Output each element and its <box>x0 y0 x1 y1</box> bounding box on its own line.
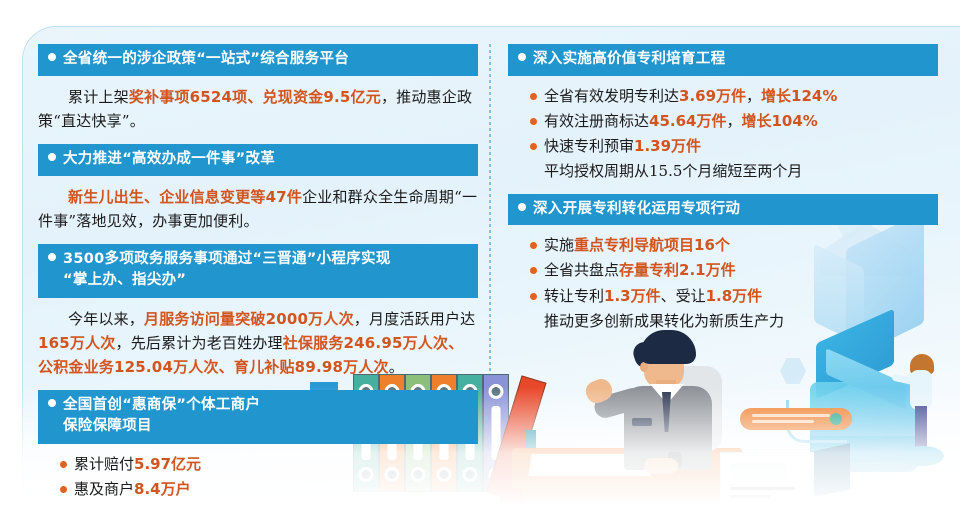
dot-icon <box>48 53 56 61</box>
bullet-dot-icon <box>60 486 67 493</box>
body-text: 今年以来， <box>68 310 144 328</box>
section-header-label: 大力推进“高效办成一件事”改革 <box>63 151 275 167</box>
body-text: 平均授权周期从15.5个月缩短至两个月 <box>544 162 802 180</box>
section-paragraph: 今年以来，月服务访问量突破2000万人次，月度活跃用户达165万人次，先后累计为… <box>38 307 478 380</box>
section-header-label: 深入实施高价值专利培育工程 <box>533 51 725 67</box>
list-item: 推动更多创新成果转化为新质生产力 <box>530 310 938 333</box>
dot-icon <box>518 53 526 61</box>
dot-icon <box>48 253 56 261</box>
highlight-text: 45.64万件 <box>649 112 726 130</box>
list-item: 平均授权周期从15.5个月缩短至两个月 <box>530 160 938 183</box>
section-paragraph: 新生儿出生、企业信息变更等47件企业和群众全生命周期“一件事”落地见效，办事更加… <box>38 185 478 234</box>
highlight-text: 5.97亿元 <box>134 455 201 473</box>
body-text: 全省有效发明专利达 <box>544 87 679 105</box>
infographic-root: 全省统一的涉企政策“一站式”综合服务平台累计上架奖补事项6524项、兑现资金9.… <box>0 0 960 507</box>
bullet-dot-icon <box>530 93 537 100</box>
list-item: 转让专利1.3万件、受让1.8万件 <box>530 285 938 308</box>
section-header-bar: 全国首创“惠商保”个体工商户保险保障项目 <box>38 390 478 443</box>
bullet-dot-icon <box>530 267 537 274</box>
right-column: 深入实施高价值专利培育工程全省有效发明专利达3.69万件，增长124%有效注册商… <box>508 44 938 343</box>
section-header-bar: 3500多项政务服务事项通过“三晋通”小程序实现“掌上办、指尖办” <box>38 244 478 297</box>
highlight-text: 奖补事项6524项、兑现资金9.5亿元 <box>129 88 381 106</box>
dot-icon <box>518 203 526 211</box>
section-header-label: 全国首创“惠商保”个体工商户 <box>63 397 260 413</box>
section-header-bar: 深入实施高价值专利培育工程 <box>508 44 938 76</box>
highlight-text: 165万人次 <box>38 334 116 352</box>
bullet-dot-icon <box>60 461 67 468</box>
list-item: 实施重点专利导航项目16个 <box>530 234 938 257</box>
section-header-label-line2: 保险保障项目 <box>48 416 468 437</box>
section-bullet-list: 全省有效发明专利达3.69万件，增长124%有效注册商标达45.64万件，增长1… <box>508 85 938 184</box>
section-header-label: 深入开展专利转化运用专项行动 <box>533 201 740 217</box>
highlight-text: 8.4万户 <box>134 480 191 498</box>
section-paragraph: 累计上架奖补事项6524项、兑现资金9.5亿元，推动惠企政策“直达快享”。 <box>38 85 478 134</box>
highlight-text: 1.39万件 <box>634 137 701 155</box>
body-text: 转让专利 <box>544 287 604 305</box>
highlight-text: 存量专利2.1万件 <box>619 261 736 279</box>
section-header-bar: 大力推进“高效办成一件事”改革 <box>38 144 478 176</box>
body-text: 推动更多创新成果转化为新质生产力 <box>544 312 784 330</box>
body-text: ，先后累计为老百姓办理 <box>116 334 283 352</box>
section-header-bar: 全省统一的涉企政策“一站式”综合服务平台 <box>38 44 478 76</box>
body-text: 。 <box>389 358 404 376</box>
dot-icon <box>48 153 56 161</box>
body-text: 惠及商户 <box>74 480 134 498</box>
body-text: 全省共盘点 <box>544 261 619 279</box>
bullet-dot-icon <box>530 293 537 300</box>
highlight-text: 重点专利导航项目16个 <box>574 236 730 254</box>
highlight-text: 新生儿出生、企业信息变更等47件 <box>68 188 302 206</box>
section-bullet-list: 累计赔付5.97亿元惠及商户8.4万户 <box>38 453 478 502</box>
body-text: 有效注册商标达 <box>544 112 649 130</box>
body-text: 、受让 <box>661 287 706 305</box>
body-text: ，月度活跃用户达 <box>354 310 476 328</box>
body-text: 累计上架 <box>68 88 129 106</box>
body-text: 快速专利预审 <box>544 137 634 155</box>
dot-icon <box>48 399 56 407</box>
section-bullet-list: 实施重点专利导航项目16个全省共盘点存量专利2.1万件转让专利1.3万件、受让1… <box>508 234 938 333</box>
highlight-text: 月服务访问量突破2000万人次 <box>144 310 354 328</box>
section-header-label-line2: “掌上办、指尖办” <box>48 270 468 291</box>
highlight-text: 增长124% <box>761 87 837 105</box>
section-header-label: 3500多项政务服务事项通过“三晋通”小程序实现 <box>63 251 391 267</box>
list-item: 有效注册商标达45.64万件，增长104% <box>530 110 938 133</box>
bullet-dot-icon <box>530 143 537 150</box>
highlight-text: 1.3万件 <box>604 287 661 305</box>
body-text: 累计赔付 <box>74 455 134 473</box>
list-item: 快速专利预审1.39万件 <box>530 135 938 158</box>
highlight-text: 增长104% <box>741 112 817 130</box>
column-divider <box>489 44 491 374</box>
highlight-text: 1.8万件 <box>706 287 763 305</box>
body-text: ， <box>726 112 741 130</box>
section-header-label: 全省统一的涉企政策“一站式”综合服务平台 <box>63 51 349 67</box>
body-text: 实施 <box>544 236 574 254</box>
list-item: 惠及商户8.4万户 <box>60 478 478 501</box>
left-column: 全省统一的涉企政策“一站式”综合服务平台累计上架奖补事项6524项、兑现资金9.… <box>38 44 478 507</box>
body-text: ， <box>746 87 761 105</box>
highlight-text: 3.69万件 <box>679 87 746 105</box>
bullet-dot-icon <box>530 242 537 249</box>
section-header-bar: 深入开展专利转化运用专项行动 <box>508 194 938 226</box>
list-item: 全省有效发明专利达3.69万件，增长124% <box>530 85 938 108</box>
list-item: 累计赔付5.97亿元 <box>60 453 478 476</box>
list-item: 全省共盘点存量专利2.1万件 <box>530 259 938 282</box>
bullet-dot-icon <box>530 118 537 125</box>
